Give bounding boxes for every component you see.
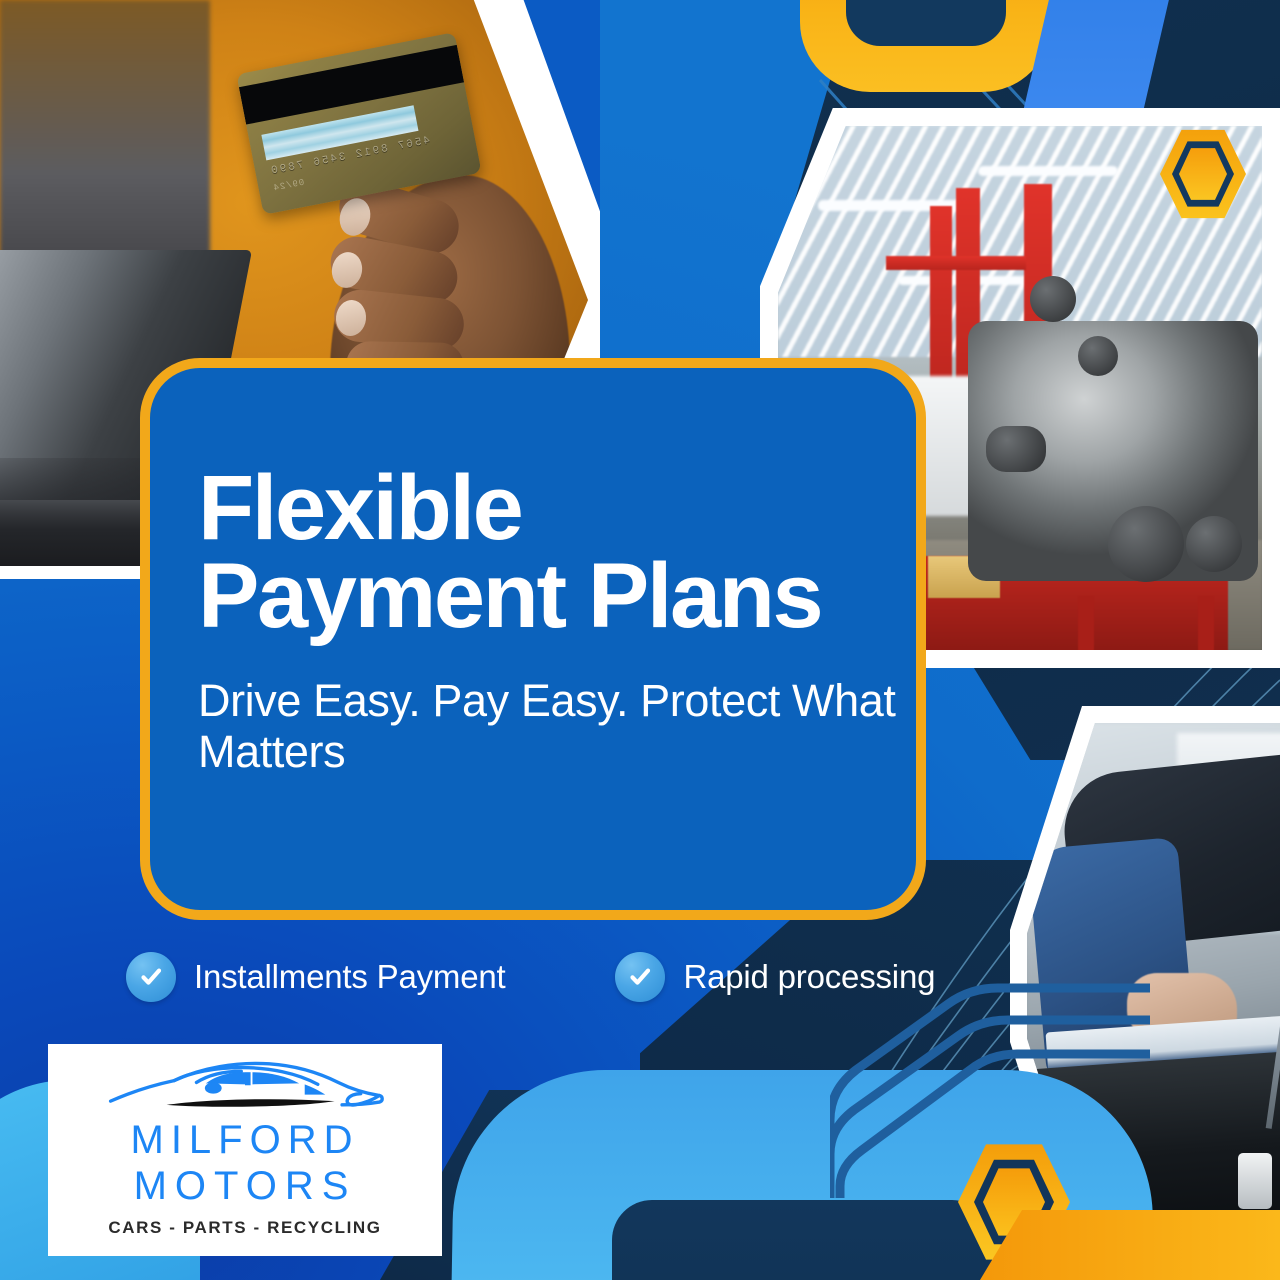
- headline-line-1: Flexible: [198, 457, 521, 559]
- page-title: Flexible Payment Plans: [198, 464, 916, 641]
- brand-name-line-1: MILFORD: [131, 1120, 360, 1160]
- yellow-u-band-cutout: [846, 0, 1006, 46]
- feature-item-rapid-processing: Rapid processing: [615, 952, 935, 1002]
- headline-line-2: Payment Plans: [198, 545, 821, 647]
- credit-card-expiry: 09/24: [272, 178, 305, 194]
- navy-arc-inner: [612, 1200, 992, 1280]
- brand-tagline: CARS - PARTS - RECYCLING: [108, 1218, 381, 1238]
- brand-name-line-2: MOTORS: [134, 1166, 357, 1206]
- brand-logo: MILFORD MOTORS CARS - PARTS - RECYCLING: [48, 1044, 442, 1256]
- feature-list: Installments Payment Rapid processing: [126, 952, 935, 1002]
- check-circle-icon: [615, 952, 665, 1002]
- feature-item-installments: Installments Payment: [126, 952, 505, 1002]
- feature-label: Installments Payment: [194, 958, 505, 996]
- orange-bottom-bar: [980, 1210, 1280, 1280]
- subheadline: Drive Easy. Pay Easy. Protect What Matte…: [198, 675, 916, 778]
- promo-poster: 4567 8912 3456 7890 09/24: [0, 0, 1280, 1280]
- car-silhouette-icon: [105, 1060, 385, 1118]
- hero-card: Flexible Payment Plans Drive Easy. Pay E…: [140, 358, 926, 920]
- check-circle-icon: [126, 952, 176, 1002]
- feature-label: Rapid processing: [683, 958, 935, 996]
